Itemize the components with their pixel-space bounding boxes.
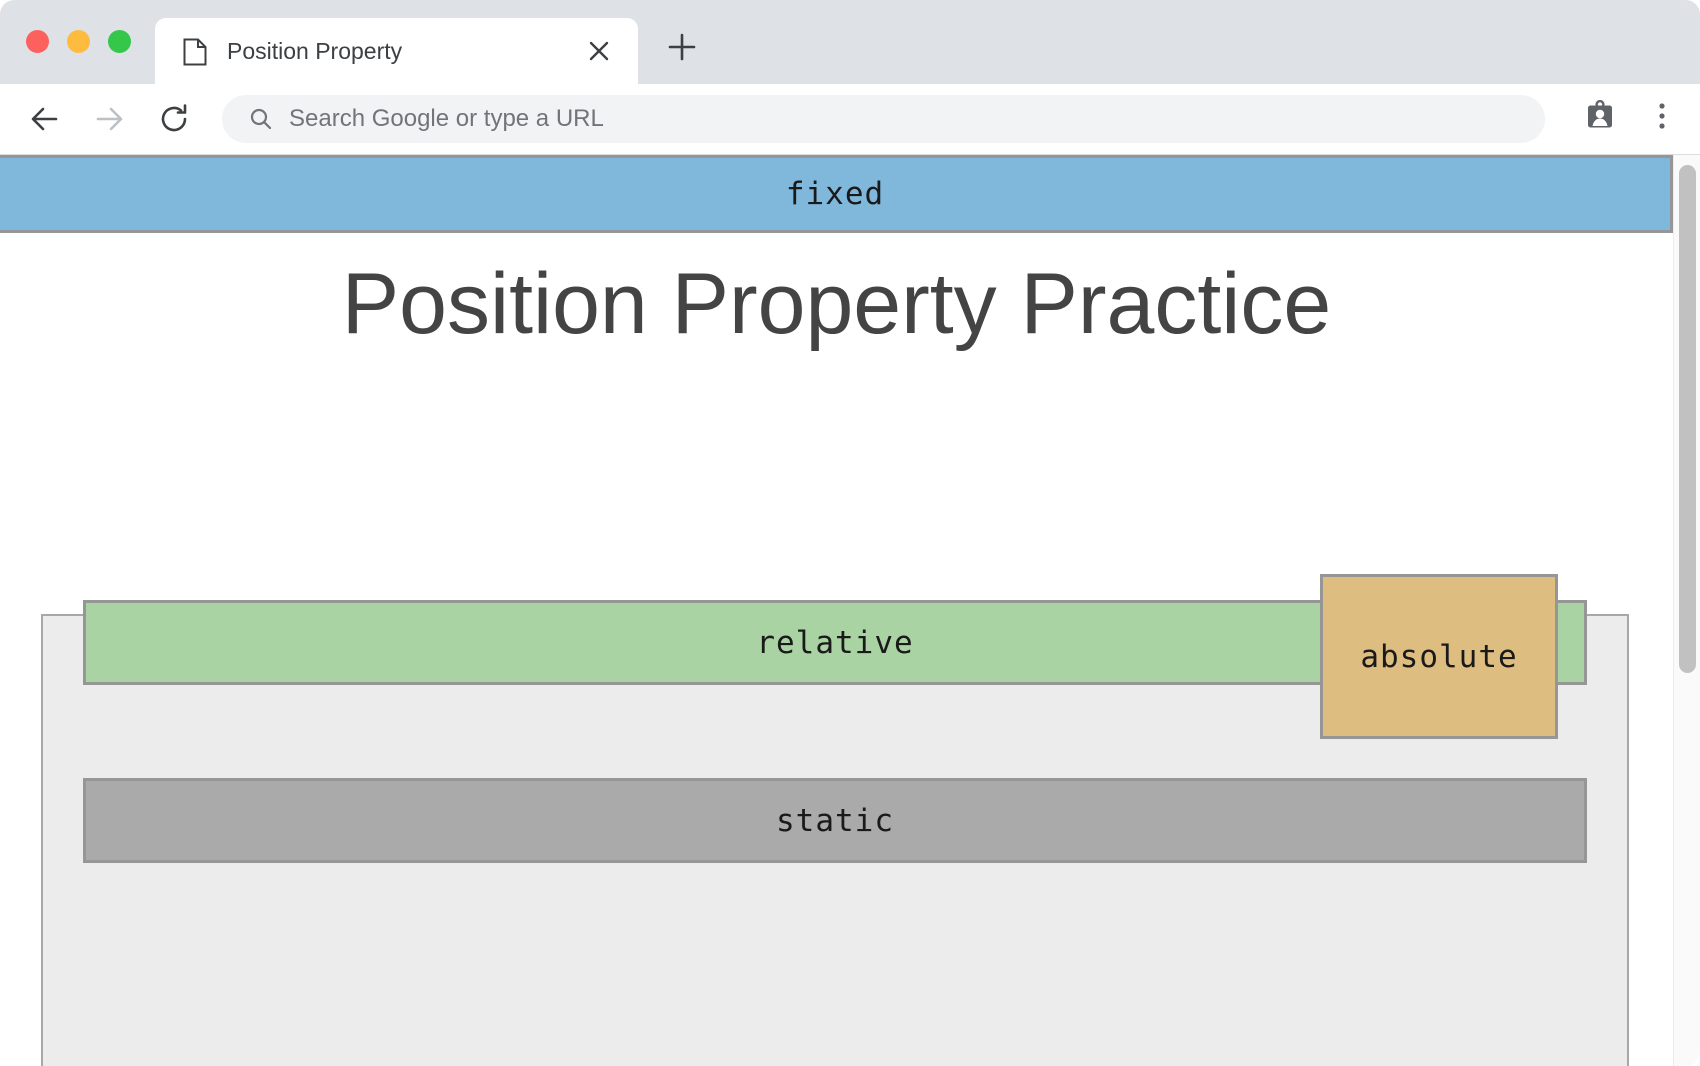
static-position-box: static (83, 778, 1587, 863)
search-icon (250, 108, 272, 130)
window-traffic-lights (26, 30, 131, 53)
tab-title: Position Property (227, 18, 402, 84)
window-maximize-button[interactable] (108, 30, 131, 53)
window-minimize-button[interactable] (67, 30, 90, 53)
address-bar[interactable]: Search Google or type a URL (222, 95, 1545, 143)
vertical-scrollbar[interactable] (1673, 155, 1700, 1066)
fixed-box-label: fixed (786, 176, 884, 212)
page-viewport: fixed Position Property Practice static … (0, 155, 1700, 1066)
scrollbar-thumb[interactable] (1679, 165, 1696, 673)
fixed-position-box: fixed (0, 155, 1673, 233)
new-tab-button[interactable] (665, 30, 699, 64)
tab-strip: Position Property (0, 0, 1700, 84)
forward-arrow-icon (90, 100, 128, 138)
page-title: Position Property Practice (0, 255, 1673, 354)
browser-toolbar: Search Google or type a URL (0, 84, 1700, 155)
browser-window: Position Property (0, 0, 1700, 1066)
static-box-label: static (776, 803, 894, 839)
page-icon (183, 38, 207, 66)
window-close-button[interactable] (26, 30, 49, 53)
reload-icon[interactable] (155, 100, 193, 138)
three-dot-menu-icon[interactable] (1645, 99, 1679, 133)
relative-box-label: relative (756, 625, 913, 661)
browser-tab[interactable]: Position Property (155, 18, 638, 84)
profile-card-icon[interactable] (1583, 99, 1617, 133)
absolute-box-label: absolute (1360, 639, 1517, 675)
address-bar-placeholder: Search Google or type a URL (289, 95, 604, 143)
close-icon[interactable] (584, 36, 614, 66)
back-arrow-icon[interactable] (26, 100, 64, 138)
absolute-position-box: absolute (1320, 574, 1558, 739)
page-canvas: fixed Position Property Practice static … (0, 155, 1673, 1066)
